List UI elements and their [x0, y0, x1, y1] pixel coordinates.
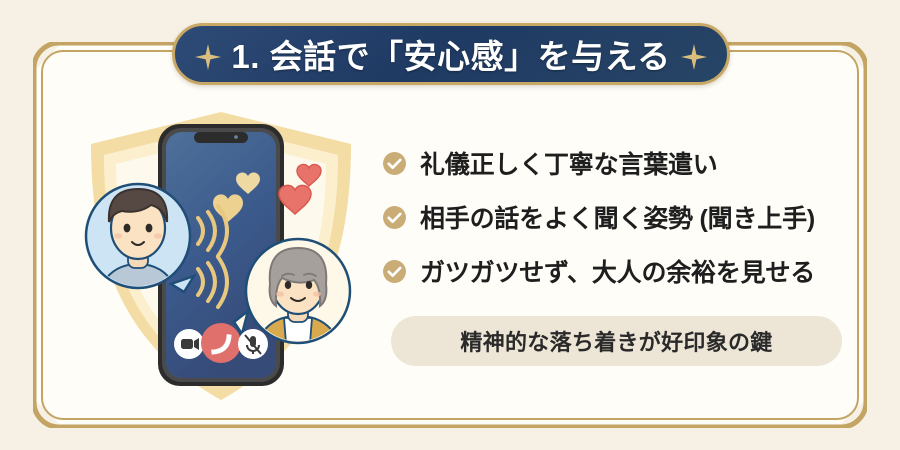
video-call-illustration: [76, 106, 366, 406]
callout-pill: 精神的な落ち着きが好印象の鍵: [391, 316, 842, 366]
list-item-label: 相手の話をよく聞く姿勢 (聞き上手): [420, 199, 815, 235]
sparkle-icon: [681, 44, 707, 70]
title-banner: 1. 会話で「安心感」を与える: [172, 23, 730, 85]
check-circle-icon: [382, 205, 407, 230]
slide-canvas: 1. 会話で「安心感」を与える: [0, 0, 900, 450]
page-title: 1. 会話で「安心感」を与える: [231, 30, 670, 78]
list-item: 相手の話をよく聞く姿勢 (聞き上手): [382, 190, 852, 244]
list-item: 礼儀正しく丁寧な言葉遣い: [382, 136, 852, 190]
sparkle-icon: [195, 44, 221, 70]
check-circle-icon: [382, 151, 407, 176]
illustration-svg: [76, 106, 366, 406]
list-item-label: ガツガツせず、大人の余裕を見せる: [420, 253, 815, 289]
list-item-label: 礼儀正しく丁寧な言葉遣い: [420, 145, 718, 181]
callout-label: 精神的な落ち着きが好印象の鍵: [460, 325, 772, 357]
video-camera-button[interactable]: [174, 329, 204, 359]
list-item: ガツガツせず、大人の余裕を見せる: [382, 244, 852, 298]
mute-microphone-button[interactable]: [238, 329, 268, 359]
end-call-button[interactable]: [201, 323, 241, 363]
bullet-list: 礼儀正しく丁寧な言葉遣い 相手の話をよく聞く姿勢 (聞き上手) ガツガツせず、大…: [382, 136, 852, 298]
check-circle-icon: [382, 259, 407, 284]
